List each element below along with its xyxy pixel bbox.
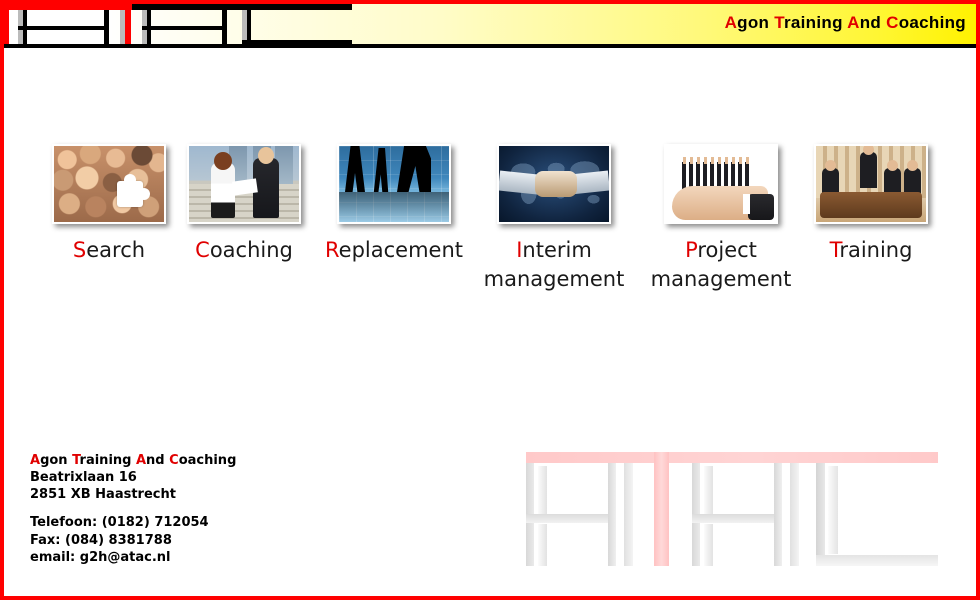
company-rest: raining — [80, 453, 136, 468]
service-item-project-management[interactable]: Project management — [636, 144, 806, 293]
header-title-rest: nd — [860, 13, 886, 32]
watermark-top-bar — [526, 452, 938, 463]
faces-puzzle-image[interactable] — [52, 144, 166, 224]
coaching-meeting-image[interactable] — [187, 144, 301, 224]
header-title-rest: raining — [784, 13, 847, 32]
contact-spacer — [30, 503, 236, 514]
contact-block: Agon Training And Coaching Beatrixlaan 1… — [30, 452, 236, 566]
watermark-stroke — [704, 466, 713, 514]
service-label-project-management: Project management — [636, 236, 806, 293]
logo-stroke — [18, 26, 109, 30]
handshake-art — [499, 146, 609, 222]
project-art — [666, 146, 776, 222]
faces-collage-art — [54, 146, 164, 222]
person-woman — [211, 162, 235, 218]
atac-watermark-logo — [520, 452, 944, 566]
watermark-stroke — [828, 466, 838, 554]
label-line2: management — [651, 267, 792, 291]
contact-company-name: Agon Training And Coaching — [30, 452, 236, 469]
label-line2: management — [484, 267, 625, 291]
walking-silhouettes-image[interactable] — [337, 144, 451, 224]
watermark-stroke — [538, 466, 547, 514]
page-root: Agon Training And Coaching Search — [0, 0, 980, 600]
label-cap: P — [685, 238, 697, 262]
service-label-replacement: Replacement — [309, 236, 479, 265]
watermark-stroke — [704, 524, 713, 566]
service-item-replacement[interactable]: Replacement — [309, 144, 479, 265]
label-rest: earch — [86, 238, 145, 262]
logo-stroke — [247, 10, 251, 44]
company-rest: nd — [146, 453, 169, 468]
label-cap: C — [195, 238, 210, 262]
watermark-stroke — [538, 524, 547, 566]
company-cap: A — [30, 453, 40, 468]
header-title-cap: C — [886, 13, 899, 32]
replacement-art — [339, 146, 449, 222]
label-cap: S — [73, 238, 86, 262]
watermark-red-t — [654, 452, 669, 566]
coaching-art — [189, 146, 299, 222]
contact-street: Beatrixlaan 16 — [30, 469, 236, 486]
handshake-shape — [535, 171, 577, 197]
logo-red-spine — [4, 4, 9, 48]
header-banner: Agon Training And Coaching — [4, 4, 976, 48]
service-label-training: Training — [786, 236, 956, 265]
contact-fax: Fax: (084) 8381788 — [30, 532, 236, 549]
header-title-rest: oaching — [899, 13, 966, 32]
watermark-stroke — [526, 514, 616, 523]
watermark-stroke — [816, 555, 938, 566]
table-shape — [820, 192, 922, 218]
training-art — [816, 146, 926, 222]
service-item-training[interactable]: Training — [786, 144, 956, 265]
logo-stroke — [242, 40, 352, 44]
company-rest: gon — [40, 453, 72, 468]
header-title-cap: A — [725, 13, 738, 32]
logo-stroke — [222, 10, 227, 44]
label-rest: raining — [839, 238, 912, 262]
logo-red-t — [125, 10, 131, 44]
company-cap: C — [169, 453, 179, 468]
group-on-palm-image[interactable] — [664, 144, 778, 224]
atac-logo-icon-part2[interactable] — [132, 4, 352, 48]
watermark-stroke — [608, 463, 616, 566]
label-rest: eplacement — [339, 238, 463, 262]
service-label-coaching: Coaching — [159, 236, 329, 265]
watermark-stroke — [624, 463, 633, 566]
logo-stroke — [104, 10, 109, 44]
label-rest: nterim — [522, 238, 591, 262]
label-cap: R — [325, 238, 339, 262]
contact-phone: Telefoon: (0182) 712054 — [30, 514, 236, 531]
puzzle-piece-icon — [117, 181, 143, 207]
header-title-cap: T — [774, 13, 784, 32]
company-rest: oaching — [179, 453, 237, 468]
company-cap: T — [72, 453, 79, 468]
label-rest: roject — [697, 238, 757, 262]
header-title-cap: A — [847, 13, 860, 32]
services-row: Search Coaching — [4, 144, 976, 304]
service-label-interim-management: Interim management — [469, 236, 639, 293]
person-shape — [860, 152, 877, 188]
watermark-stroke — [774, 463, 782, 566]
header-title: Agon Training And Coaching — [725, 13, 966, 33]
header-title-rest: gon — [737, 13, 774, 32]
service-item-coaching[interactable]: Coaching — [159, 144, 329, 265]
label-rest: oaching — [210, 238, 293, 262]
watermark-stroke — [790, 463, 799, 566]
logo-stroke — [142, 26, 227, 30]
sleeve-cuff-shape — [748, 194, 774, 220]
atac-logo-icon[interactable] — [4, 4, 132, 48]
company-cap: A — [136, 453, 146, 468]
service-item-interim-management[interactable]: Interim management — [469, 144, 639, 293]
contact-city: 2851 XB Haastrecht — [30, 486, 236, 503]
watermark-stroke — [692, 514, 782, 523]
label-cap: T — [830, 238, 840, 262]
watermark-stroke — [816, 463, 825, 566]
training-room-image[interactable] — [814, 144, 928, 224]
contact-email[interactable]: email: g2h@atac.nl — [30, 549, 236, 566]
handshake-world-image[interactable] — [497, 144, 611, 224]
reflection-shape — [339, 192, 449, 222]
